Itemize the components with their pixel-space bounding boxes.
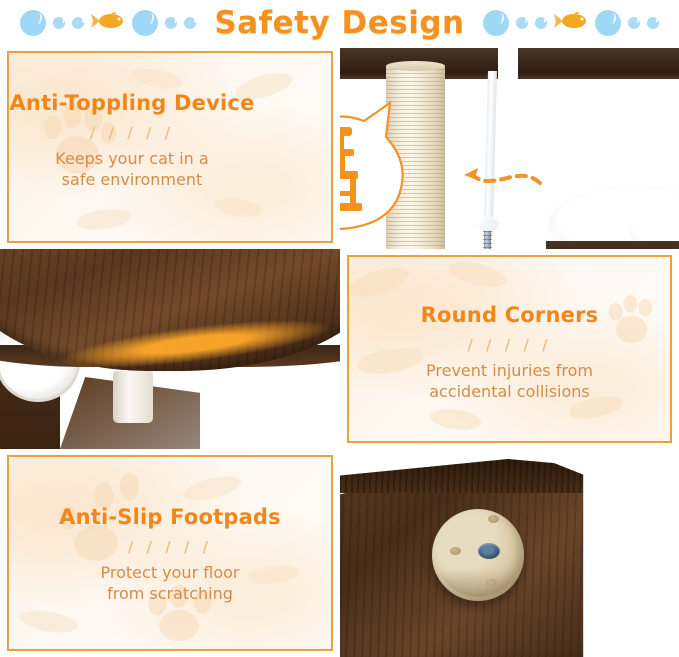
cat-head-callout [340,87,416,237]
divider-slashes: / / / / / [128,540,212,555]
rounded-wood-corner-photo [0,249,340,449]
anti-tip-strap [484,71,497,221]
anti-tip-strap-photo [340,45,679,249]
support-leg [113,371,153,423]
bubble-icon [628,17,640,29]
feature-title: Anti-Toppling Device [9,91,254,117]
bubble-icon [483,10,509,36]
feature-panel-round-corners: Round Corners / / / / / Prevent injuries… [347,255,672,443]
photo-divider-gap [498,45,518,249]
feature-text-block: Anti-Toppling Device / / / / / Keeps you… [0,91,271,191]
page-title: Safety Design [204,5,474,41]
feature-cell-anti-slip-photo [340,449,679,657]
footpad [432,509,524,601]
base-board-edge [340,459,618,493]
feature-text-block: Round Corners / / / / / Prevent injuries… [405,303,615,403]
bubble-icon [132,10,158,36]
anchor-screw-icon [484,231,491,249]
feature-cell-anti-slip-text: Anti-Slip Footpads / / / / / Protect you… [0,449,340,657]
footpad-dimple [486,579,497,587]
bubble-icon [535,17,547,29]
feature-title: Anti-Slip Footpads [59,505,281,531]
bubble-icon [516,17,528,29]
feature-panel-anti-slip: Anti-Slip Footpads / / / / / Protect you… [7,455,333,651]
feature-cell-anti-toppling-photo [340,45,679,249]
anti-slip-footpad-photo [340,449,679,657]
bubble-icon [595,10,621,36]
feature-title: Round Corners [421,303,599,329]
bubble-icon [20,10,46,36]
feature-cell-round-corners-photo [0,249,340,449]
header-decor-left [12,10,204,36]
bubble-icon [647,17,659,29]
bubble-icon [165,17,177,29]
feature-cell-anti-toppling-text: Anti-Toppling Device / / / / / Keeps you… [0,45,340,249]
feature-description: Protect your floor from scratching [101,562,240,605]
feature-cell-round-corners-text: Round Corners / / / / / Prevent injuries… [340,249,679,449]
footpad-dimple [450,547,461,555]
divider-slashes: / / / / / [90,126,174,141]
bubble-icon [53,17,65,29]
bubble-icon [72,17,84,29]
dashed-arrow-left-icon [414,157,544,197]
fish-icon [91,11,125,35]
feature-description: Keeps your cat in a safe environment [55,148,208,191]
feature-description: Prevent injuries from accidental collisi… [426,360,593,403]
header-decor-right [475,10,667,36]
bubble-icon [184,17,196,29]
feature-panel-anti-toppling: Anti-Toppling Device / / / / / Keeps you… [7,51,333,243]
footpad-screw-icon [478,543,500,559]
feature-text-block: Anti-Slip Footpads / / / / / Protect you… [43,505,297,605]
divider-slashes: / / / / / [467,338,551,353]
footpad-dimple [488,515,499,523]
feature-grid: Anti-Toppling Device / / / / / Keeps you… [0,45,679,657]
fish-icon [554,11,588,35]
page-header: Safety Design [0,0,679,45]
base-shelf-board [546,241,679,249]
